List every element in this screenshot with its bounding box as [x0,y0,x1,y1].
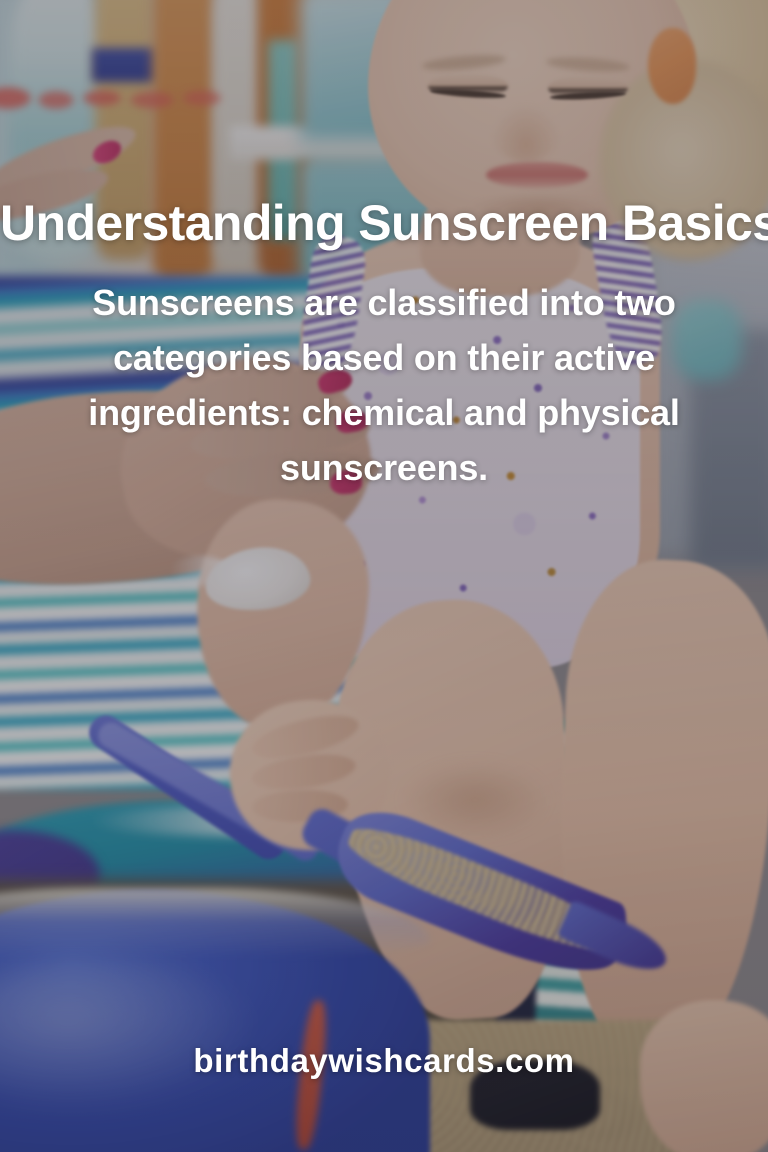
text-overlay: Understanding Sunscreen Basics Sunscreen… [0,0,768,1152]
site-watermark: birthdaywishcards.com [0,1042,768,1080]
sunscreen-info-card: Understanding Sunscreen Basics Sunscreen… [0,0,768,1152]
page-title: Understanding Sunscreen Basics [0,197,768,250]
body-paragraph: Sunscreens are classified into two categ… [84,275,684,495]
